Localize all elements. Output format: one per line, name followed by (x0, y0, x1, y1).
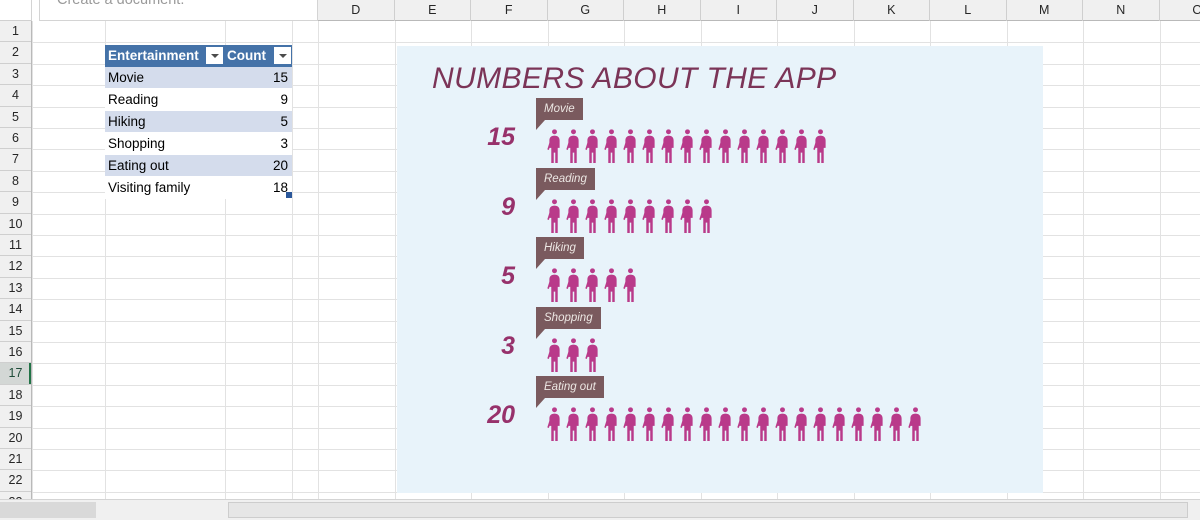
cell-entertainment[interactable]: Hiking (105, 111, 224, 133)
pictogram-category-label: Movie (536, 98, 583, 120)
grid-line-vertical (1083, 21, 1084, 499)
grid-line-vertical (1160, 21, 1161, 499)
person-icon (811, 128, 830, 164)
person-icon (583, 128, 602, 164)
person-icon (583, 198, 602, 234)
column-header-h[interactable]: H (624, 0, 701, 21)
data-table[interactable]: EntertainmentCountMovie15Reading9Hiking5… (105, 45, 292, 199)
person-icon (564, 198, 583, 234)
person-icon (754, 128, 773, 164)
horizontal-scrollbar-thumb[interactable] (228, 502, 1188, 518)
grid-line-vertical (32, 21, 33, 499)
person-icon (678, 198, 697, 234)
person-icon (602, 198, 621, 234)
cell-count[interactable]: 3 (224, 133, 292, 155)
column-header-entertainment: Entertainment (105, 45, 224, 67)
pictogram-icon-group (545, 259, 640, 303)
person-icon (583, 406, 602, 442)
person-icon (906, 406, 925, 442)
row-header-15[interactable]: 15 (0, 321, 31, 342)
sheet-tab-area[interactable] (0, 502, 96, 518)
cell-entertainment[interactable]: Movie (105, 67, 224, 89)
person-icon (564, 406, 583, 442)
grid-line-vertical (292, 21, 293, 499)
pictogram-chart[interactable]: NUMBERS ABOUT THE APP 15Movie9Reading5Hi… (397, 46, 1043, 493)
formula-bar[interactable]: Create a document. (39, 0, 318, 21)
column-header-k[interactable]: K (854, 0, 931, 21)
person-icon (792, 406, 811, 442)
grid-line-vertical (318, 21, 319, 499)
person-icon (621, 406, 640, 442)
person-icon (602, 267, 621, 303)
column-header-o[interactable]: O (1160, 0, 1200, 21)
name-box[interactable] (0, 0, 32, 21)
table-row[interactable]: Shopping3 (105, 133, 292, 155)
row-header-11[interactable]: 11 (0, 235, 31, 256)
row-header-3[interactable]: 3 (0, 64, 31, 85)
table-row[interactable]: Visiting family18 (105, 177, 292, 199)
pictogram-category-label: Reading (536, 168, 595, 190)
person-icon (868, 406, 887, 442)
person-icon (545, 267, 564, 303)
person-icon (716, 128, 735, 164)
person-icon (678, 128, 697, 164)
person-icon (792, 128, 811, 164)
person-icon (697, 406, 716, 442)
row-header-1[interactable]: 1 (0, 21, 31, 42)
cell-entertainment[interactable]: Reading (105, 89, 224, 111)
row-header-10[interactable]: 10 (0, 214, 31, 235)
filter-dropdown-icon[interactable] (206, 47, 223, 64)
column-header-count: Count (224, 45, 292, 67)
pictogram-category-label: Hiking (536, 237, 584, 259)
pictogram-icon-group (545, 120, 830, 164)
row-header-8[interactable]: 8 (0, 171, 31, 192)
row-header-20[interactable]: 20 (0, 428, 31, 449)
pictogram-icon-group (545, 329, 602, 373)
person-icon (697, 198, 716, 234)
table-header-row: EntertainmentCount (105, 45, 292, 67)
person-icon (545, 337, 564, 373)
column-header-g[interactable]: G (548, 0, 625, 21)
grid-line-horizontal (32, 42, 1200, 43)
person-icon (602, 406, 621, 442)
pictogram-value: 20 (457, 400, 515, 430)
pictogram-row: 3Shopping (397, 307, 1043, 377)
person-icon (621, 198, 640, 234)
person-icon (583, 267, 602, 303)
row-header-14[interactable]: 14 (0, 299, 31, 320)
person-icon (545, 128, 564, 164)
person-icon (621, 128, 640, 164)
cell-count[interactable]: 9 (224, 89, 292, 111)
pictogram-category-label: Shopping (536, 307, 601, 329)
pictogram-icon-group (545, 398, 925, 442)
person-icon (678, 406, 697, 442)
person-icon (545, 198, 564, 234)
filter-dropdown-icon[interactable] (274, 47, 291, 64)
cell-entertainment[interactable]: Shopping (105, 133, 224, 155)
person-icon (621, 267, 640, 303)
pictogram-row: 20Eating out (397, 376, 1043, 446)
pictogram-row: 5Hiking (397, 237, 1043, 307)
person-icon (659, 198, 678, 234)
chart-title: NUMBERS ABOUT THE APP (432, 62, 837, 96)
person-icon (640, 198, 659, 234)
person-icon (735, 128, 754, 164)
person-icon (849, 406, 868, 442)
row-header-16[interactable]: 16 (0, 342, 31, 363)
person-icon (564, 267, 583, 303)
person-icon (602, 128, 621, 164)
cell-entertainment[interactable]: Visiting family (105, 177, 224, 199)
pictogram-value: 3 (457, 331, 515, 361)
row-header-5[interactable]: 5 (0, 107, 31, 128)
column-header-i[interactable]: I (701, 0, 778, 21)
person-icon (659, 128, 678, 164)
row-header-7[interactable]: 7 (0, 149, 31, 170)
row-header-19[interactable]: 19 (0, 406, 31, 427)
person-icon (697, 128, 716, 164)
pictogram-category-label: Eating out (536, 376, 604, 398)
person-icon (640, 406, 659, 442)
table-row[interactable]: Reading9 (105, 89, 292, 111)
cell-count[interactable]: 15 (224, 67, 292, 89)
column-header-n[interactable]: N (1083, 0, 1160, 21)
cell-entertainment[interactable]: Eating out (105, 155, 224, 177)
table-row[interactable]: Eating out20 (105, 155, 292, 177)
pictogram-value: 5 (457, 261, 515, 291)
column-header-f[interactable]: F (471, 0, 548, 21)
column-header-m[interactable]: M (1007, 0, 1084, 21)
column-header-d[interactable]: D (318, 0, 395, 21)
pictogram-value: 9 (457, 192, 515, 222)
row-header-22[interactable]: 22 (0, 470, 31, 491)
formula-bar-text: Create a document. (57, 0, 184, 8)
column-header-label: Count (227, 48, 266, 63)
person-icon (716, 406, 735, 442)
row-header-9[interactable]: 9 (0, 192, 31, 213)
row-header-gutter: 1234567891011121314151617181920212223 (0, 21, 32, 499)
row-header-18[interactable]: 18 (0, 385, 31, 406)
column-header-e[interactable]: E (395, 0, 472, 21)
row-header-6[interactable]: 6 (0, 128, 31, 149)
grid-line-vertical (395, 21, 396, 499)
pictogram-row: 9Reading (397, 168, 1043, 238)
row-header-21[interactable]: 21 (0, 449, 31, 470)
spreadsheet-grid[interactable]: Create a document. DEFGHIJKLMNO 12345678… (0, 0, 1200, 520)
row-header-13[interactable]: 13 (0, 278, 31, 299)
cell-count[interactable]: 18 (224, 177, 292, 199)
column-header-label: Entertainment (108, 48, 199, 63)
horizontal-scrollbar[interactable] (0, 499, 1200, 520)
person-icon (811, 406, 830, 442)
row-header-4[interactable]: 4 (0, 85, 31, 106)
person-icon (735, 406, 754, 442)
table-row[interactable]: Movie15 (105, 67, 292, 89)
column-header-j[interactable]: J (777, 0, 854, 21)
pictogram-icon-group (545, 190, 716, 234)
person-icon (564, 337, 583, 373)
person-icon (754, 406, 773, 442)
row-header-12[interactable]: 12 (0, 256, 31, 277)
person-icon (640, 128, 659, 164)
row-header-17[interactable]: 17 (0, 363, 31, 384)
person-icon (545, 406, 564, 442)
person-icon (583, 337, 602, 373)
fill-handle[interactable] (286, 192, 292, 198)
person-icon (564, 128, 583, 164)
row-header-2[interactable]: 2 (0, 42, 31, 63)
column-header-row: DEFGHIJKLMNO (318, 0, 1200, 21)
table-row[interactable]: Hiking5 (105, 111, 292, 133)
person-icon (830, 406, 849, 442)
pictogram-row: 15Movie (397, 98, 1043, 168)
person-icon (887, 406, 906, 442)
person-icon (773, 128, 792, 164)
column-header-l[interactable]: L (930, 0, 1007, 21)
pictogram-value: 15 (457, 122, 515, 152)
cell-count[interactable]: 5 (224, 111, 292, 133)
person-icon (659, 406, 678, 442)
person-icon (773, 406, 792, 442)
cell-count[interactable]: 20 (224, 155, 292, 177)
